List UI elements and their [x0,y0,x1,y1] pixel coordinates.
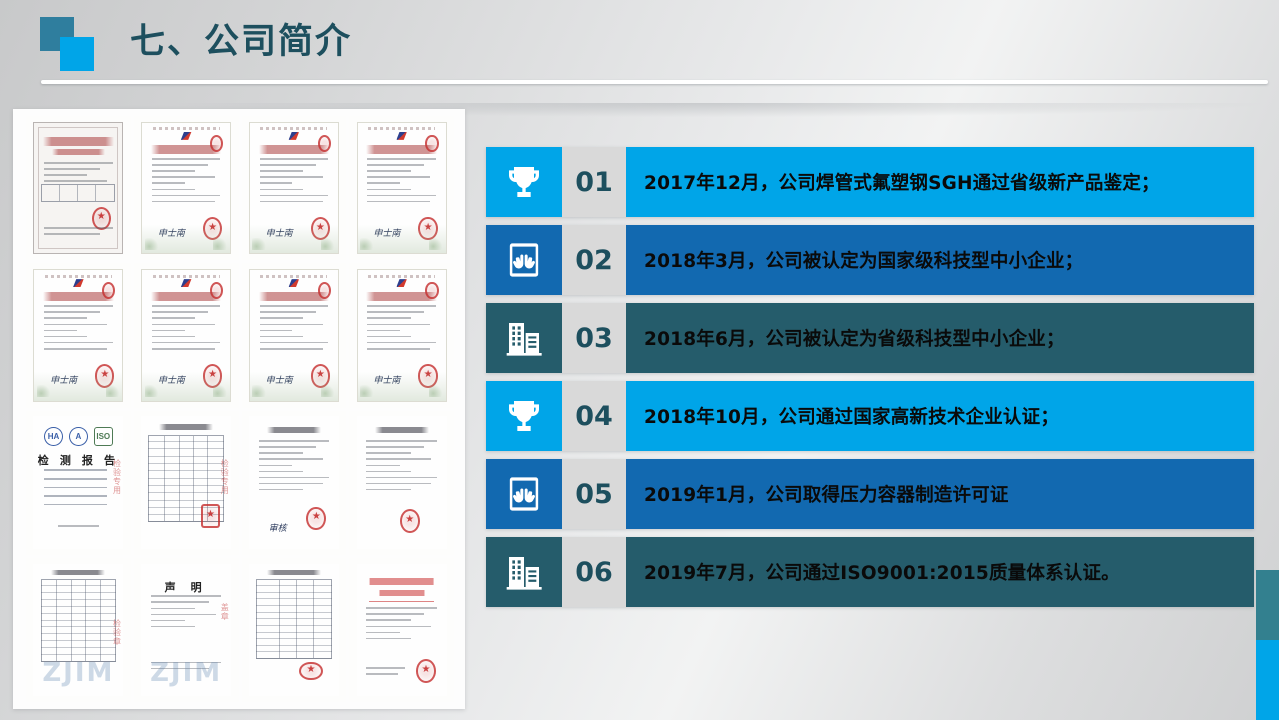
certificate-item: 审核 [242,411,347,555]
page-title: 七、公司简介 [130,13,352,64]
certificate-item [349,558,454,702]
trophy-icon [486,381,562,451]
timeline-row-text: 2018年6月，公司被认定为省级科技型中小企业； [626,303,1254,373]
trophy-icon [486,147,562,217]
certificate-item: 申士南 [242,263,347,407]
timeline-row[interactable]: 02 2018年3月，公司被认定为国家级科技型中小企业； [486,225,1254,295]
certificate-item: 检验章 ZJIM [26,558,131,702]
tablet-hands-icon [486,459,562,529]
timeline-row-number: 04 [562,381,626,451]
achievement-timeline-list: 01 2017年12月，公司焊管式氟塑钢SGH通过省级新产品鉴定； 02 201… [486,147,1254,615]
building-icon [486,303,562,373]
timeline-row-text: 2019年1月，公司取得压力容器制造许可证 [626,459,1254,529]
header-square-light-icon [60,37,94,71]
certificate-item: 申士南 [349,263,454,407]
building-icon [486,537,562,607]
timeline-row[interactable]: 05 2019年1月，公司取得压力容器制造许可证 [486,459,1254,529]
timeline-row-text: 2018年3月，公司被认定为国家级科技型中小企业； [626,225,1254,295]
corner-decoration-cyan [1256,640,1279,720]
timeline-row[interactable]: 06 2019年7月，公司通过ISO9001:2015质量体系认证。 [486,537,1254,607]
timeline-row[interactable]: 01 2017年12月，公司焊管式氟塑钢SGH通过省级新产品鉴定； [486,147,1254,217]
certificate-photo-panel: 申士南 申士南 申士 [13,109,465,709]
timeline-row-text: 2018年10月，公司通过国家高新技术企业认证； [626,381,1254,451]
timeline-row-number: 01 [562,147,626,217]
certificate-item: HAAISO 检 测 报 告 检验专用 [26,411,131,555]
timeline-row-number: 03 [562,303,626,373]
certificate-item: 检验专用 [134,411,239,555]
timeline-row[interactable]: 04 2018年10月，公司通过国家高新技术企业认证； [486,381,1254,451]
corner-decoration-teal [1256,570,1279,640]
certificate-item [349,411,454,555]
certificate-item: 声 明 盖章 ZJIM [134,558,239,702]
certificate-item [26,116,131,260]
timeline-row-number: 05 [562,459,626,529]
timeline-row-text: 2017年12月，公司焊管式氟塑钢SGH通过省级新产品鉴定； [626,147,1254,217]
title-divider [41,80,1268,84]
certificate-item: 申士南 [349,116,454,260]
timeline-row[interactable]: 03 2018年6月，公司被认定为省级科技型中小企业； [486,303,1254,373]
certificate-grid: 申士南 申士南 申士 [26,116,454,702]
corner-decoration [1256,570,1279,720]
timeline-row-number: 02 [562,225,626,295]
certificate-item: 申士南 [134,263,239,407]
tablet-hands-icon [486,225,562,295]
slide-header: 七、公司简介 [0,0,1279,100]
timeline-row-text: 2019年7月，公司通过ISO9001:2015质量体系认证。 [626,537,1254,607]
certificate-item: 申士南 [242,116,347,260]
certificate-item: 申士南 [134,116,239,260]
certificate-item [242,558,347,702]
certificate-item: 申士南 [26,263,131,407]
timeline-row-number: 06 [562,537,626,607]
